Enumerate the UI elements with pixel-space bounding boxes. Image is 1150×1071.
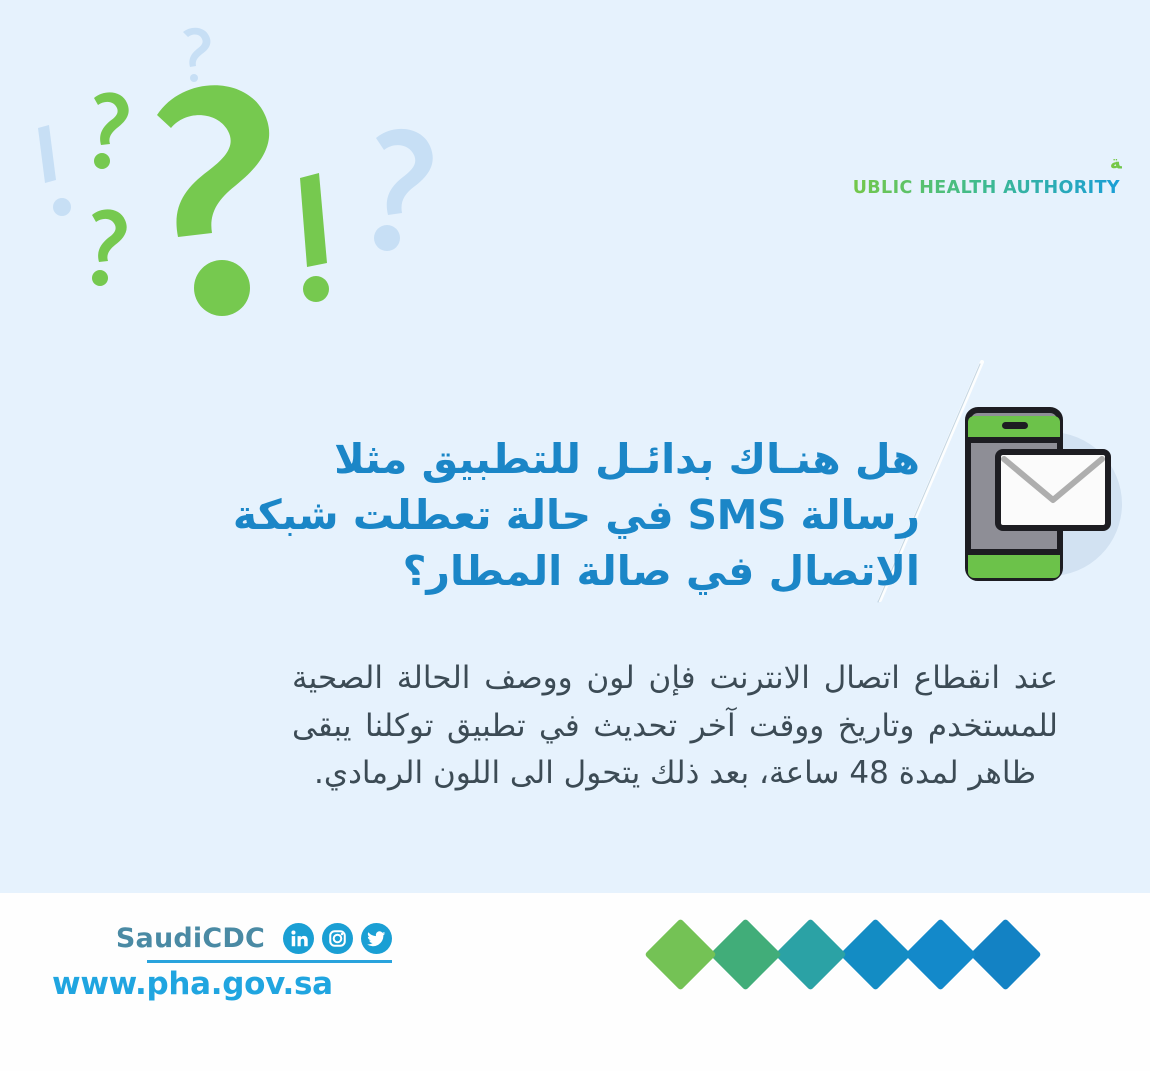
diamond-6 [644, 918, 716, 990]
diamond-accent-strip [655, 929, 1031, 980]
social-handle: SaudiCDC [116, 923, 265, 954]
logo-subtitle-arabic: هيئة الصحة العامة [854, 150, 1122, 174]
diamond-2 [904, 918, 976, 990]
diamond-3 [839, 918, 911, 990]
logo-wordmark-arabic: وقاية [850, 52, 1122, 144]
website-url[interactable]: www.pha.gov.sa [52, 966, 392, 1002]
logo-wordmark-text: وقاية [1118, 53, 1122, 143]
linkedin-icon[interactable] [283, 923, 314, 954]
logo-subtitle-en-text: PUBLIC HEALTH AUTHORITY [854, 178, 1120, 198]
instagram-icon[interactable] [322, 923, 353, 954]
footer-bar: SaudiCDC www.pha.gov.sa [0, 893, 1150, 1071]
phone-sms-envelope-illustration [922, 382, 1132, 607]
diamond-1 [969, 918, 1041, 990]
envelope-icon [998, 452, 1108, 528]
diamond-5 [709, 918, 781, 990]
question-marks-cluster [20, 10, 440, 330]
diamond-4 [774, 918, 846, 990]
infographic-poster: وقاية هيئة الصحة العامة PUBLIC HEALTH AU… [0, 0, 1150, 1071]
footer-divider-rule [147, 960, 392, 963]
body-paragraph: عند انقطاع اتصال الانترنت فإن لون ووصف ا… [292, 655, 1058, 798]
twitter-icon[interactable] [361, 923, 392, 954]
pha-logo: وقاية هيئة الصحة العامة PUBLIC HEALTH AU… [832, 52, 1122, 198]
footer-contact-block: SaudiCDC www.pha.gov.sa [52, 921, 392, 1002]
logo-subtitle-ar-text: هيئة الصحة العامة [1110, 152, 1122, 173]
page-headline: هل هنـاك بدائـل للتطبيق مثلا رسالة SMS ف… [230, 432, 920, 599]
social-links-row: SaudiCDC [52, 921, 392, 955]
logo-subtitle-english: PUBLIC HEALTH AUTHORITY [854, 176, 1122, 198]
decor-green-marks [92, 85, 329, 316]
